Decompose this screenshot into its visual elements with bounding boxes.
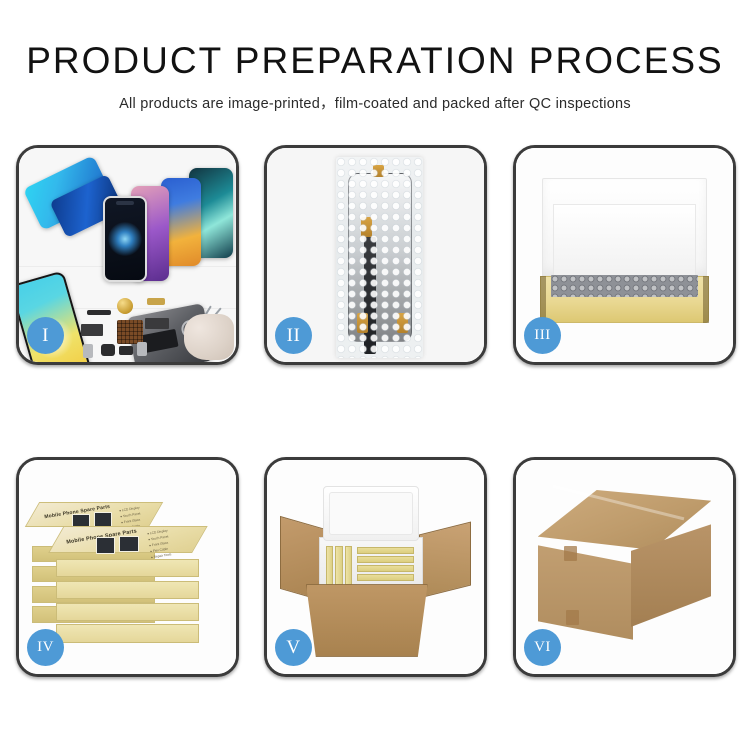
flex-cable-icon bbox=[81, 324, 103, 336]
connector-board-icon bbox=[117, 320, 143, 344]
box-window-front-2 bbox=[119, 536, 139, 553]
white-foam-sheet-icon bbox=[553, 204, 696, 279]
carton-tape-tab-1-icon bbox=[564, 546, 577, 561]
box-right-edge-icon bbox=[703, 276, 710, 323]
steps-row-top: I II bbox=[16, 145, 736, 365]
step-panel-3[interactable]: III bbox=[513, 145, 736, 365]
bubble-wrap-bag-icon bbox=[336, 157, 423, 358]
earpiece-part-icon bbox=[87, 310, 111, 315]
step-badge-4: IV bbox=[27, 629, 64, 666]
box-window-front-1 bbox=[96, 537, 116, 554]
hand-icon bbox=[184, 314, 234, 360]
step-panel-6[interactable]: VI bbox=[513, 457, 736, 677]
step-panel-5[interactable]: V bbox=[264, 457, 487, 677]
stack-slab-5 bbox=[56, 559, 200, 577]
phone-black-glass-icon bbox=[103, 196, 147, 282]
yellow-bundle-7 bbox=[357, 574, 414, 581]
carton-tape-tab-2-icon bbox=[566, 610, 579, 625]
step-badge-5: V bbox=[275, 629, 312, 666]
phone-notch-icon bbox=[116, 201, 134, 205]
carton-body-icon bbox=[306, 584, 428, 657]
bubble-texture-icon bbox=[336, 157, 423, 358]
steps-grid: I II bbox=[16, 145, 736, 750]
product-preparation-infographic: PRODUCT PREPARATION PROCESS All products… bbox=[0, 0, 750, 750]
flex-cable-2-icon bbox=[145, 318, 169, 329]
stack-slab-8 bbox=[56, 624, 200, 642]
button-part-icon bbox=[119, 346, 133, 355]
step-badge-2: II bbox=[275, 317, 312, 354]
vibrator-icon bbox=[101, 344, 115, 356]
step-badge-6: VI bbox=[524, 629, 561, 666]
logic-board-icon bbox=[142, 329, 179, 353]
step-badge-3: III bbox=[524, 317, 561, 354]
battery-connector-icon bbox=[137, 342, 147, 356]
yellow-bundle-1 bbox=[326, 546, 333, 586]
gold-contact-icon bbox=[147, 298, 165, 305]
stack-slab-7 bbox=[56, 603, 200, 621]
foam-lid-icon bbox=[323, 486, 418, 542]
page-subtitle: All products are image-printed，film-coat… bbox=[0, 92, 750, 113]
header: PRODUCT PREPARATION PROCESS All products… bbox=[0, 0, 750, 113]
box-stack-icon: Mobile Phone Spare Parts ● LCD Display● … bbox=[28, 486, 228, 653]
step-panel-1[interactable]: I bbox=[16, 145, 239, 365]
yellow-bundle-2 bbox=[335, 546, 342, 586]
foam-lid-inner-icon bbox=[329, 492, 412, 536]
steps-row-bottom: Mobile Phone Spare Parts ● LCD Display● … bbox=[16, 457, 736, 677]
step-badge-1: I bbox=[27, 317, 64, 354]
yellow-bundle-5 bbox=[357, 556, 414, 563]
yellow-bundle-4 bbox=[357, 547, 414, 554]
speaker-coin-icon bbox=[117, 298, 133, 314]
grey-bubble-wrap-icon bbox=[551, 275, 699, 296]
screen-crack-icon bbox=[108, 222, 142, 256]
yellow-bundle-6 bbox=[357, 565, 414, 572]
page-title: PRODUCT PREPARATION PROCESS bbox=[0, 42, 750, 81]
stack-slab-6 bbox=[56, 581, 200, 599]
step-panel-2[interactable]: II bbox=[264, 145, 487, 365]
step-panel-4[interactable]: Mobile Phone Spare Parts ● LCD Display● … bbox=[16, 457, 239, 677]
sim-tray-icon bbox=[83, 344, 93, 358]
yellow-bundle-3 bbox=[345, 546, 352, 586]
